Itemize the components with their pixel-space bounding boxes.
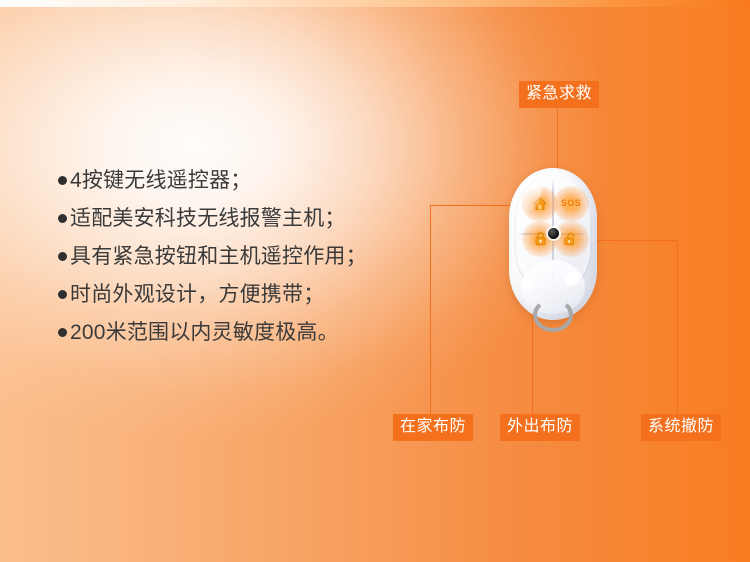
list-item: 200米范围以内灵敏度极高。 (58, 320, 428, 345)
product-infographic: 4按键无线遥控器； 适配美安科技无线报警主机； 具有紧急按钮和主机遥控作用； 时… (0, 0, 750, 562)
callout-sos[interactable]: 紧急求救 (519, 81, 599, 108)
list-item: 具有紧急按钮和主机遥控作用； (58, 244, 428, 269)
feature-text: 时尚外观设计，方便携带； (70, 282, 324, 307)
list-item: 适配美安科技无线报警主机； (58, 206, 428, 231)
bullet-dot-icon (58, 290, 67, 299)
led-indicator-icon (548, 228, 559, 239)
connector-home-arm-vertical (430, 205, 431, 414)
list-item: 4按键无线遥控器； (58, 168, 428, 193)
feature-list: 4按键无线遥控器； 适配美安科技无线报警主机； 具有紧急按钮和主机遥控作用； 时… (58, 168, 428, 358)
bullet-dot-icon (58, 176, 67, 185)
feature-text: 4按键无线遥控器； (70, 168, 251, 193)
sos-label: SOS (558, 198, 584, 208)
feature-text: 适配美安科技无线报警主机； (70, 206, 346, 231)
bullet-dot-icon (58, 328, 67, 337)
lock-closed-icon[interactable] (531, 230, 549, 248)
background-top-band (0, 0, 750, 7)
list-item: 时尚外观设计，方便携带； (58, 282, 428, 307)
connector-disarm-vertical (677, 240, 678, 414)
remote-control-device: SOS (509, 168, 597, 320)
callout-home-arm[interactable]: 在家布防 (393, 414, 473, 441)
key-ring-icon (533, 298, 573, 332)
bullet-dot-icon (58, 252, 67, 261)
feature-text: 具有紧急按钮和主机遥控作用； (70, 244, 367, 269)
bullet-dot-icon (58, 214, 67, 223)
callout-disarm[interactable]: 系统撤防 (641, 414, 721, 441)
feature-text: 200米范围以内灵敏度极高。 (70, 320, 339, 345)
callout-away-arm[interactable]: 外出布防 (500, 414, 580, 441)
lock-open-icon[interactable] (562, 230, 580, 248)
